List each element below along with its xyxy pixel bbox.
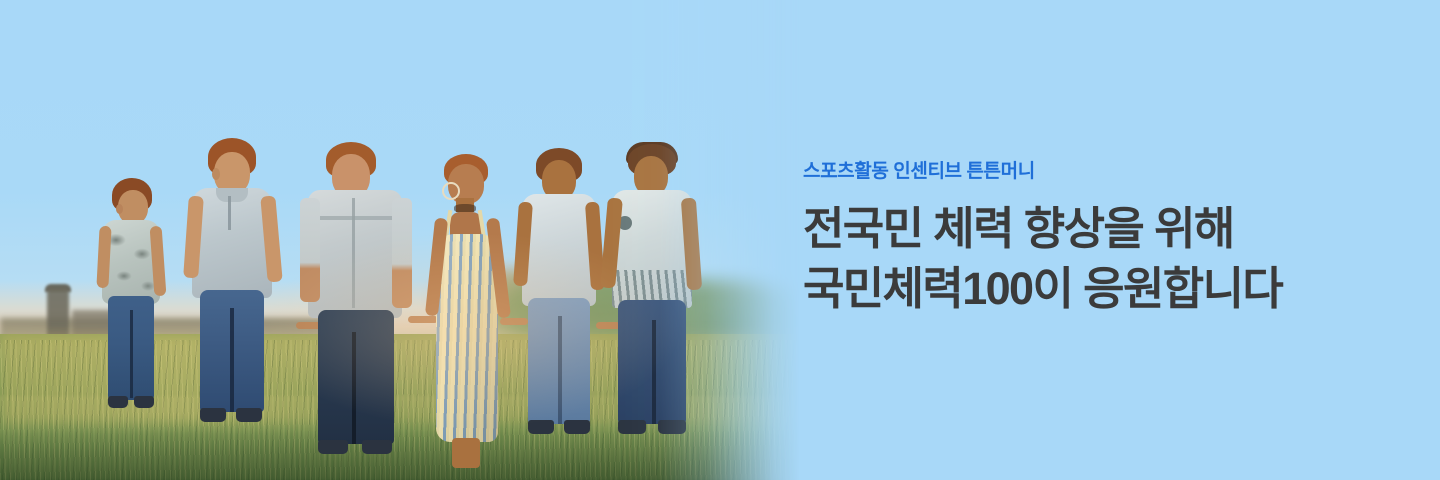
- collar: [216, 188, 248, 202]
- jeans-seam: [130, 310, 133, 398]
- figure-teen-a: [192, 138, 282, 428]
- shoe-right: [134, 396, 154, 408]
- jeans-seam: [652, 320, 656, 424]
- headline-line-1: 전국민 체력 향상을 위해: [803, 199, 1403, 259]
- jeans-seam: [352, 332, 356, 444]
- button-down-shirt: [308, 190, 402, 318]
- shoe-left: [200, 408, 226, 422]
- figure-woman: [428, 154, 508, 472]
- shoe-right: [658, 420, 686, 434]
- headline-line-2: 국민체력100이 응원합니다: [803, 259, 1403, 319]
- jeans-seam: [558, 316, 562, 424]
- banner-headline: 전국민 체력 향상을 위해 국민체력100이 응원합니다: [803, 199, 1403, 319]
- figure-boy-small: [98, 178, 168, 414]
- jeans: [318, 310, 394, 444]
- ear: [212, 168, 220, 180]
- ear: [116, 204, 123, 214]
- shoe-left: [618, 420, 646, 434]
- shoe-left: [108, 396, 128, 408]
- jeans-seam: [230, 308, 234, 412]
- promo-banner: 스포츠활동 인센티브 튼튼머니 전국민 체력 향상을 위해 국민체력100이 응…: [0, 0, 1440, 480]
- shoe-right: [564, 420, 590, 434]
- placket: [352, 198, 355, 308]
- shoe-left: [318, 440, 348, 454]
- figure-man: [308, 142, 414, 460]
- placket: [228, 196, 231, 230]
- shoe-right: [236, 408, 262, 422]
- legs: [452, 438, 480, 468]
- banner-copy: 스포츠활동 인센티브 튼튼머니 전국민 체력 향상을 위해 국민체력100이 응…: [803, 160, 1403, 318]
- shoe-right: [362, 440, 392, 454]
- family-photo: [0, 0, 820, 480]
- shirt-yoke: [308, 216, 402, 220]
- banner-eyebrow: 스포츠활동 인센티브 튼튼머니: [803, 160, 1403, 185]
- figure-teen-c: [612, 144, 700, 444]
- dress-shading: [436, 234, 498, 442]
- figure-teen-b: [522, 148, 602, 440]
- arm-right: [392, 198, 412, 308]
- arm-left: [300, 198, 320, 302]
- shoe-left: [528, 420, 554, 434]
